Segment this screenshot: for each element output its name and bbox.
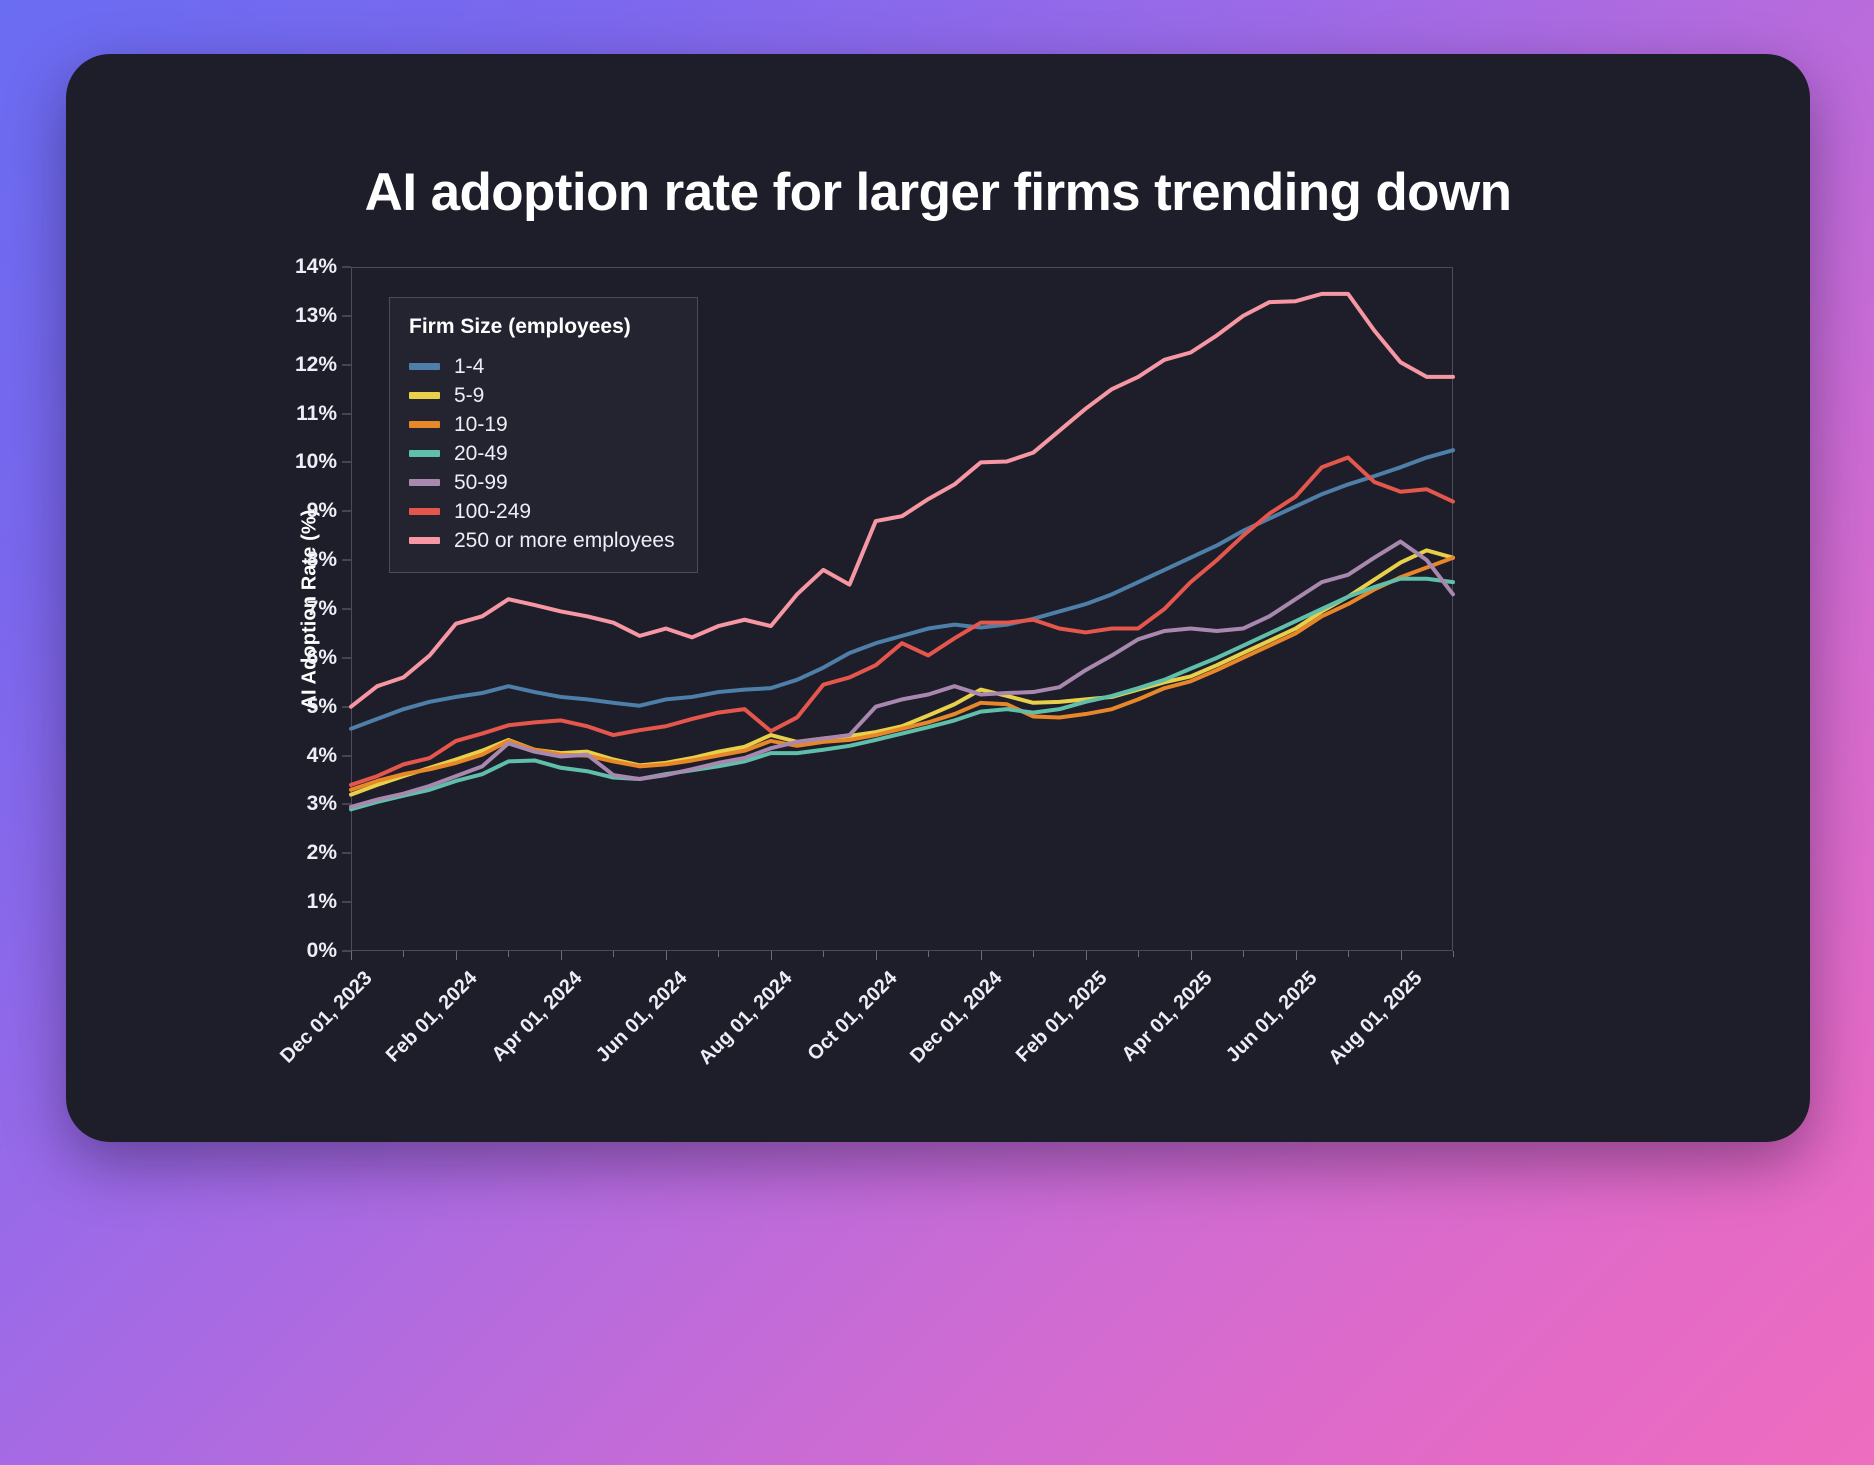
legend-item[interactable]: 5-9 (409, 381, 675, 410)
plot-area: 0%1%2%3%4%5%6%7%8%9%10%11%12%13%14% Dec … (351, 267, 1453, 951)
y-tick-label: 10% (295, 450, 337, 474)
x-tick-mark (771, 951, 772, 960)
legend-item-label: 10-19 (454, 413, 508, 437)
x-tick-label: Jun 01, 2024 (592, 967, 692, 1067)
x-tick-label: Apr 01, 2025 (1117, 967, 1217, 1067)
x-tick-mark (1296, 951, 1297, 960)
x-tick-label: Feb 01, 2025 (1012, 967, 1112, 1067)
legend-color-swatch (409, 392, 440, 399)
y-tick-label: 0% (307, 939, 337, 963)
x-tick-label: Feb 01, 2024 (382, 967, 482, 1067)
x-tick-mark-minor (928, 951, 929, 957)
legend-item[interactable]: 10-19 (409, 410, 675, 439)
x-tick-mark (876, 951, 877, 960)
y-tick-mark (342, 804, 351, 805)
legend-item[interactable]: 1-4 (409, 352, 675, 381)
legend: Firm Size (employees) 1-45-910-1920-4950… (389, 297, 698, 573)
y-tick-label: 12% (295, 353, 337, 377)
x-tick-mark (1086, 951, 1087, 960)
x-tick-mark-minor (1138, 951, 1139, 957)
y-tick-mark (342, 657, 351, 658)
y-tick-mark (342, 413, 351, 414)
legend-item-label: 5-9 (454, 384, 484, 408)
legend-item-label: 250 or more employees (454, 529, 675, 553)
x-tick-mark (1401, 951, 1402, 960)
y-tick-mark (342, 364, 351, 365)
x-tick-label: Jun 01, 2025 (1221, 967, 1321, 1067)
x-tick-label: Aug 01, 2025 (1324, 967, 1427, 1070)
legend-title: Firm Size (employees) (409, 315, 675, 339)
x-tick-mark-minor (508, 951, 509, 957)
legend-item-label: 20-49 (454, 442, 508, 466)
legend-item[interactable]: 50-99 (409, 468, 675, 497)
legend-color-swatch (409, 421, 440, 428)
series-line (351, 579, 1453, 810)
x-tick-mark (456, 951, 457, 960)
legend-color-swatch (409, 450, 440, 457)
x-tick-mark-minor (403, 951, 404, 957)
chart-card: AI adoption rate for larger firms trendi… (66, 54, 1810, 1142)
y-tick-mark (342, 755, 351, 756)
x-tick-mark (561, 951, 562, 960)
y-tick-label: 14% (295, 255, 337, 279)
y-tick-label: 5% (307, 695, 337, 719)
x-tick-label: Aug 01, 2024 (694, 967, 797, 1070)
x-tick-label: Oct 01, 2024 (803, 967, 902, 1066)
legend-item-label: 1-4 (454, 355, 484, 379)
legend-item-label: 100-249 (454, 500, 531, 524)
y-tick-mark (342, 853, 351, 854)
legend-items: 1-45-910-1920-4950-99100-249250 or more … (409, 352, 675, 555)
y-tick-label: 7% (307, 597, 337, 621)
x-tick-label: Apr 01, 2024 (488, 967, 588, 1067)
y-tick-label: 9% (307, 499, 337, 523)
legend-item[interactable]: 20-49 (409, 439, 675, 468)
x-tick-mark-minor (823, 951, 824, 957)
legend-color-swatch (409, 363, 440, 370)
legend-item[interactable]: 250 or more employees (409, 526, 675, 555)
x-tick-mark-minor (1033, 951, 1034, 957)
legend-item-label: 50-99 (454, 471, 508, 495)
x-tick-label: Dec 01, 2023 (276, 967, 377, 1068)
y-tick-mark (342, 560, 351, 561)
y-tick-label: 2% (307, 841, 337, 865)
y-tick-mark (342, 951, 351, 952)
x-tick-mark (666, 951, 667, 960)
x-tick-mark-minor (1348, 951, 1349, 957)
y-tick-label: 13% (295, 304, 337, 328)
y-tick-label: 6% (307, 646, 337, 670)
legend-color-swatch (409, 479, 440, 486)
x-tick-mark (351, 951, 352, 960)
x-tick-mark-minor (613, 951, 614, 957)
x-tick-mark-minor (1243, 951, 1244, 957)
y-tick-mark (342, 462, 351, 463)
series-line (351, 550, 1453, 794)
y-tick-mark (342, 511, 351, 512)
x-tick-mark-minor (1453, 951, 1454, 957)
y-tick-mark (342, 267, 351, 268)
y-tick-mark (342, 902, 351, 903)
y-tick-label: 8% (307, 548, 337, 572)
x-tick-mark (1191, 951, 1192, 960)
y-tick-label: 3% (307, 792, 337, 816)
legend-item[interactable]: 100-249 (409, 497, 675, 526)
y-tick-mark (342, 609, 351, 610)
legend-color-swatch (409, 537, 440, 544)
page-title: AI adoption rate for larger firms trendi… (66, 162, 1810, 223)
series-line (351, 542, 1453, 807)
x-tick-mark (981, 951, 982, 960)
x-tick-mark-minor (718, 951, 719, 957)
x-tick-label: Dec 01, 2024 (906, 967, 1007, 1068)
y-tick-label: 1% (307, 890, 337, 914)
series-line (351, 558, 1453, 790)
y-tick-label: 4% (307, 744, 337, 768)
y-tick-mark (342, 315, 351, 316)
y-tick-label: 11% (296, 402, 337, 426)
legend-color-swatch (409, 508, 440, 515)
